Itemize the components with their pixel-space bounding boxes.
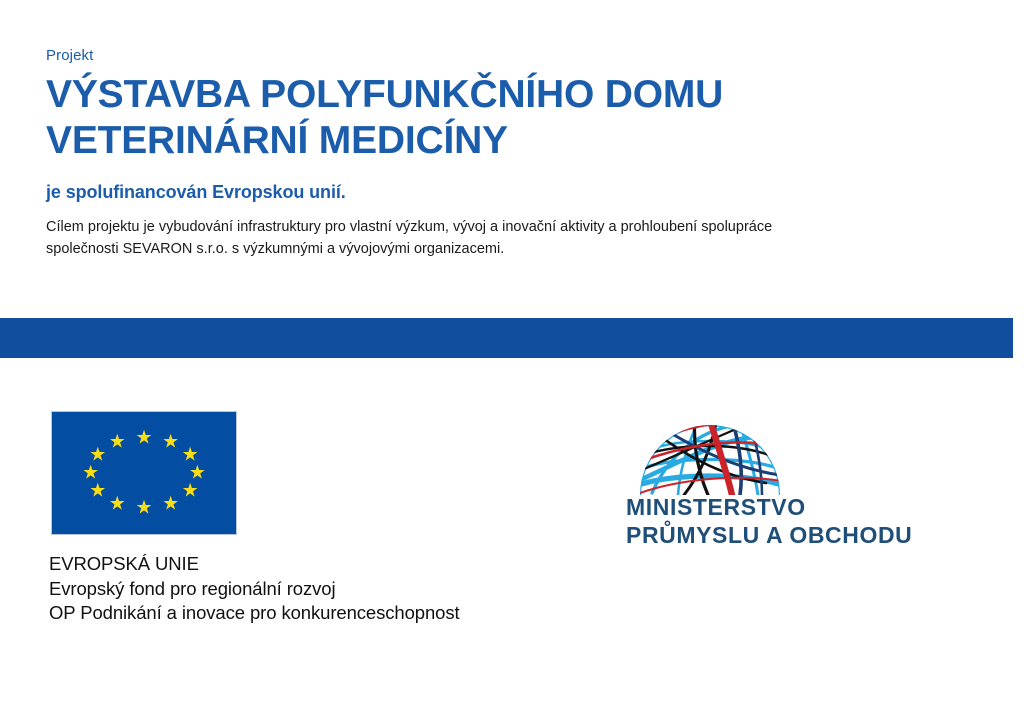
ministry-logo: MINISTERSTVO PRŮMYSLU A OBCHODU [626,405,926,555]
eu-stars-circle [52,412,236,534]
blue-divider-bar [0,318,1013,358]
poster-page: Projekt VÝSTAVBA POLYFUNKČNÍHO DOMU VETE… [0,0,1024,724]
header-block: Projekt VÝSTAVBA POLYFUNKČNÍHO DOMU VETE… [46,46,986,260]
page-subtitle: je spolufinancován Evropskou unií. [46,180,986,204]
ministry-wordmark: MINISTERSTVO PRŮMYSLU A OBCHODU [626,493,926,549]
globe-icon [634,407,786,495]
eu-flag-icon [51,411,237,535]
eu-funding-footer: EVROPSKÁ UNIE Evropský fond pro regionál… [49,552,460,626]
page-title: VÝSTAVBA POLYFUNKČNÍHO DOMU VETERINÁRNÍ … [46,72,986,164]
logo-row: MINISTERSTVO PRŮMYSLU A OBCHODU [0,405,1024,555]
project-description: Cílem projektu je vybudování infrastrukt… [46,216,926,260]
eyebrow-label: Projekt [46,46,986,66]
